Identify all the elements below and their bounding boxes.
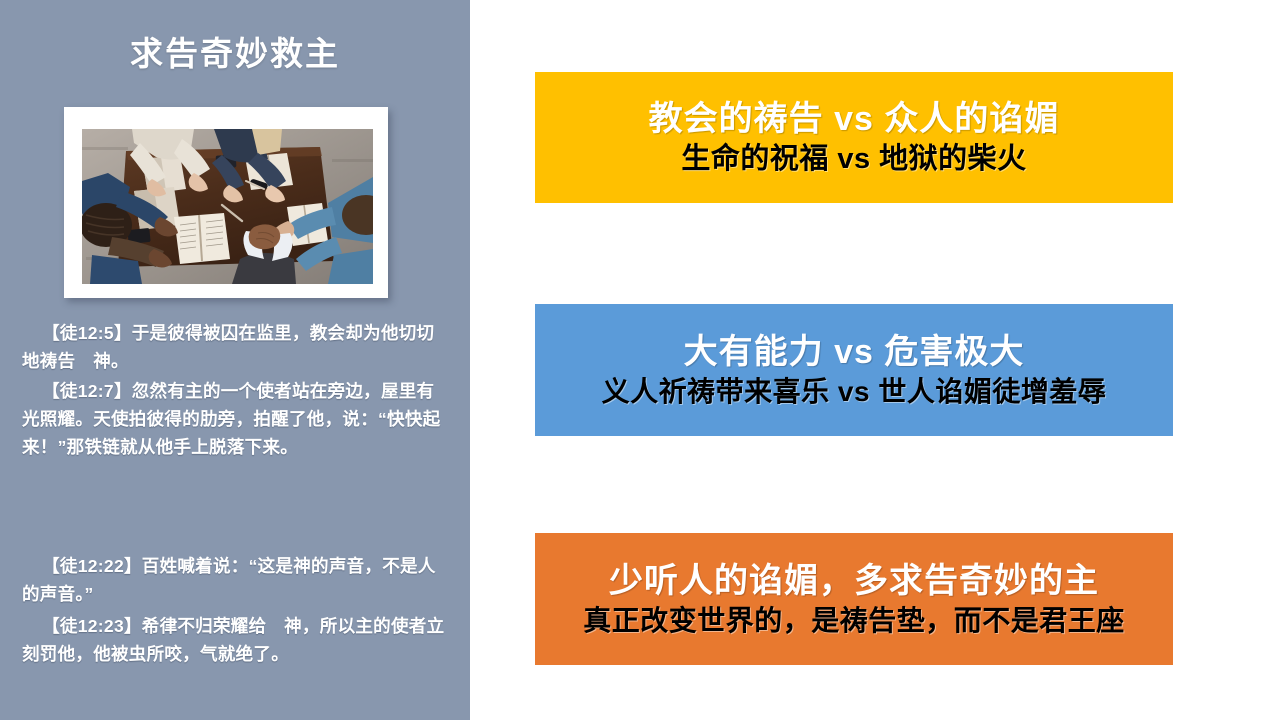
banner-blue: 大有能力 vs 危害极大 义人祈祷带来喜乐 vs 世人谄媚徒增羞辱 — [535, 304, 1173, 436]
banner-orange: 少听人的谄媚，多求告奇妙的主 真正改变世界的，是祷告垫，而不是君王座 — [535, 533, 1173, 665]
banner-blue-line2: 义人祈祷带来喜乐 vs 世人谄媚徒增羞辱 — [602, 375, 1107, 408]
banner-yellow: 教会的祷告 vs 众人的谄媚 生命的祝福 vs 地狱的柴火 — [535, 72, 1173, 203]
scripture-verse: 【徒12:22】百姓喊着说：“这是神的声音，不是人的声音。” — [22, 552, 450, 608]
scripture-block-acts-12-5-7: 【徒12:5】于是彼得被囚在监里，教会却为他切切地祷告 神。 【徒12:7】忽然… — [22, 319, 450, 461]
banner-orange-line1: 少听人的谄媚，多求告奇妙的主 — [609, 561, 1099, 601]
scripture-block-acts-12-22-23: 【徒12:22】百姓喊着说：“这是神的声音，不是人的声音。” 【徒12:23】希… — [22, 552, 450, 668]
sidebar-panel: 求告奇妙救主 — [0, 0, 470, 720]
banner-yellow-line1: 教会的祷告 vs 众人的谄媚 — [649, 99, 1060, 139]
banner-blue-line1: 大有能力 vs 危害极大 — [684, 332, 1025, 372]
banner-yellow-line2: 生命的祝福 vs 地狱的柴火 — [681, 142, 1026, 176]
scripture-verse: 【徒12:23】希律不归荣耀给 神，所以主的使者立刻罚他，他被虫所咬，气就绝了。 — [22, 612, 450, 668]
scripture-verse: 【徒12:5】于是彼得被囚在监里，教会却为他切切地祷告 神。 — [22, 319, 450, 375]
banner-orange-line2: 真正改变世界的，是祷告垫，而不是君王座 — [583, 604, 1125, 637]
scripture-verse: 【徒12:7】忽然有主的一个使者站在旁边，屋里有光照耀。天使拍彼得的肋旁，拍醒了… — [22, 377, 450, 461]
page-title: 求告奇妙救主 — [0, 33, 470, 74]
photo-frame — [64, 107, 388, 298]
prayer-group-photo — [82, 129, 373, 284]
photo-image — [82, 129, 373, 284]
presentation-slide: 求告奇妙救主 — [0, 0, 1280, 720]
